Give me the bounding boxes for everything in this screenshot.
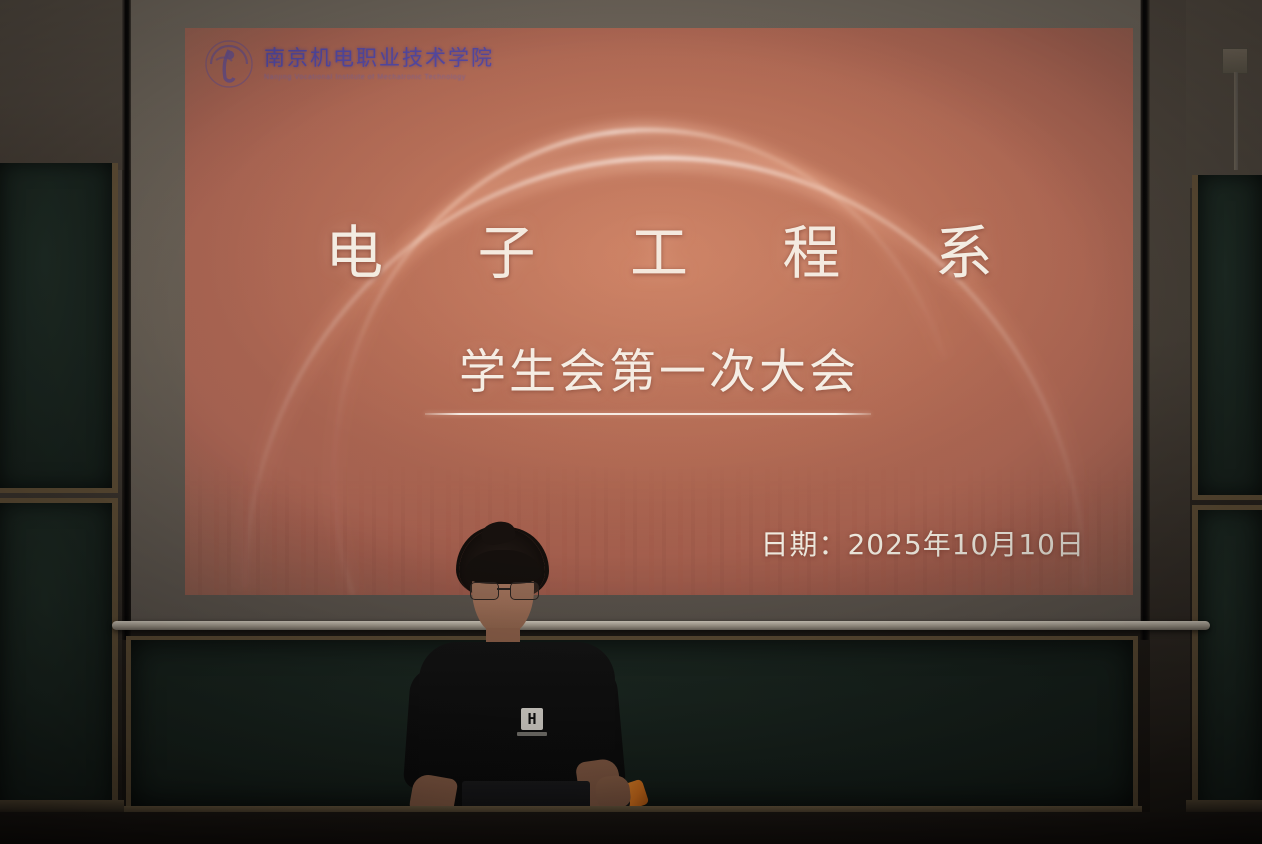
- screen-seam-right: [1140, 0, 1149, 640]
- blackboard-left-upper: [0, 163, 118, 493]
- wall-fixture-icon: [1222, 48, 1248, 74]
- shirt-logo-icon: H: [521, 708, 543, 730]
- wall-right-upper-plaster: [1186, 0, 1262, 188]
- lower-wall: [0, 812, 1262, 844]
- shirt-logo-glyph: H: [527, 712, 536, 727]
- wall-fixture-rod-icon: [1234, 72, 1238, 170]
- blackboard-right-lower: [1192, 505, 1262, 820]
- glasses-lens-left: [470, 582, 499, 600]
- slide-vignette: [185, 28, 1133, 595]
- presentation-slide: 南京机电职业技术学院 Nanjing Vocational Institute …: [185, 28, 1133, 595]
- wall-right-panel: [1150, 0, 1190, 844]
- screen-seam-left: [122, 0, 131, 640]
- blackboard-right-upper: [1192, 175, 1262, 500]
- shirt-logo-underline: [517, 732, 547, 736]
- presenter-hand-right: [594, 774, 631, 809]
- glasses-icon: [469, 582, 539, 598]
- blackboard-left-lower: [0, 498, 118, 818]
- glasses-bridge: [497, 588, 511, 590]
- scene-root: 南京机电职业技术学院 Nanjing Vocational Institute …: [0, 0, 1262, 844]
- glasses-lens-right: [510, 582, 539, 600]
